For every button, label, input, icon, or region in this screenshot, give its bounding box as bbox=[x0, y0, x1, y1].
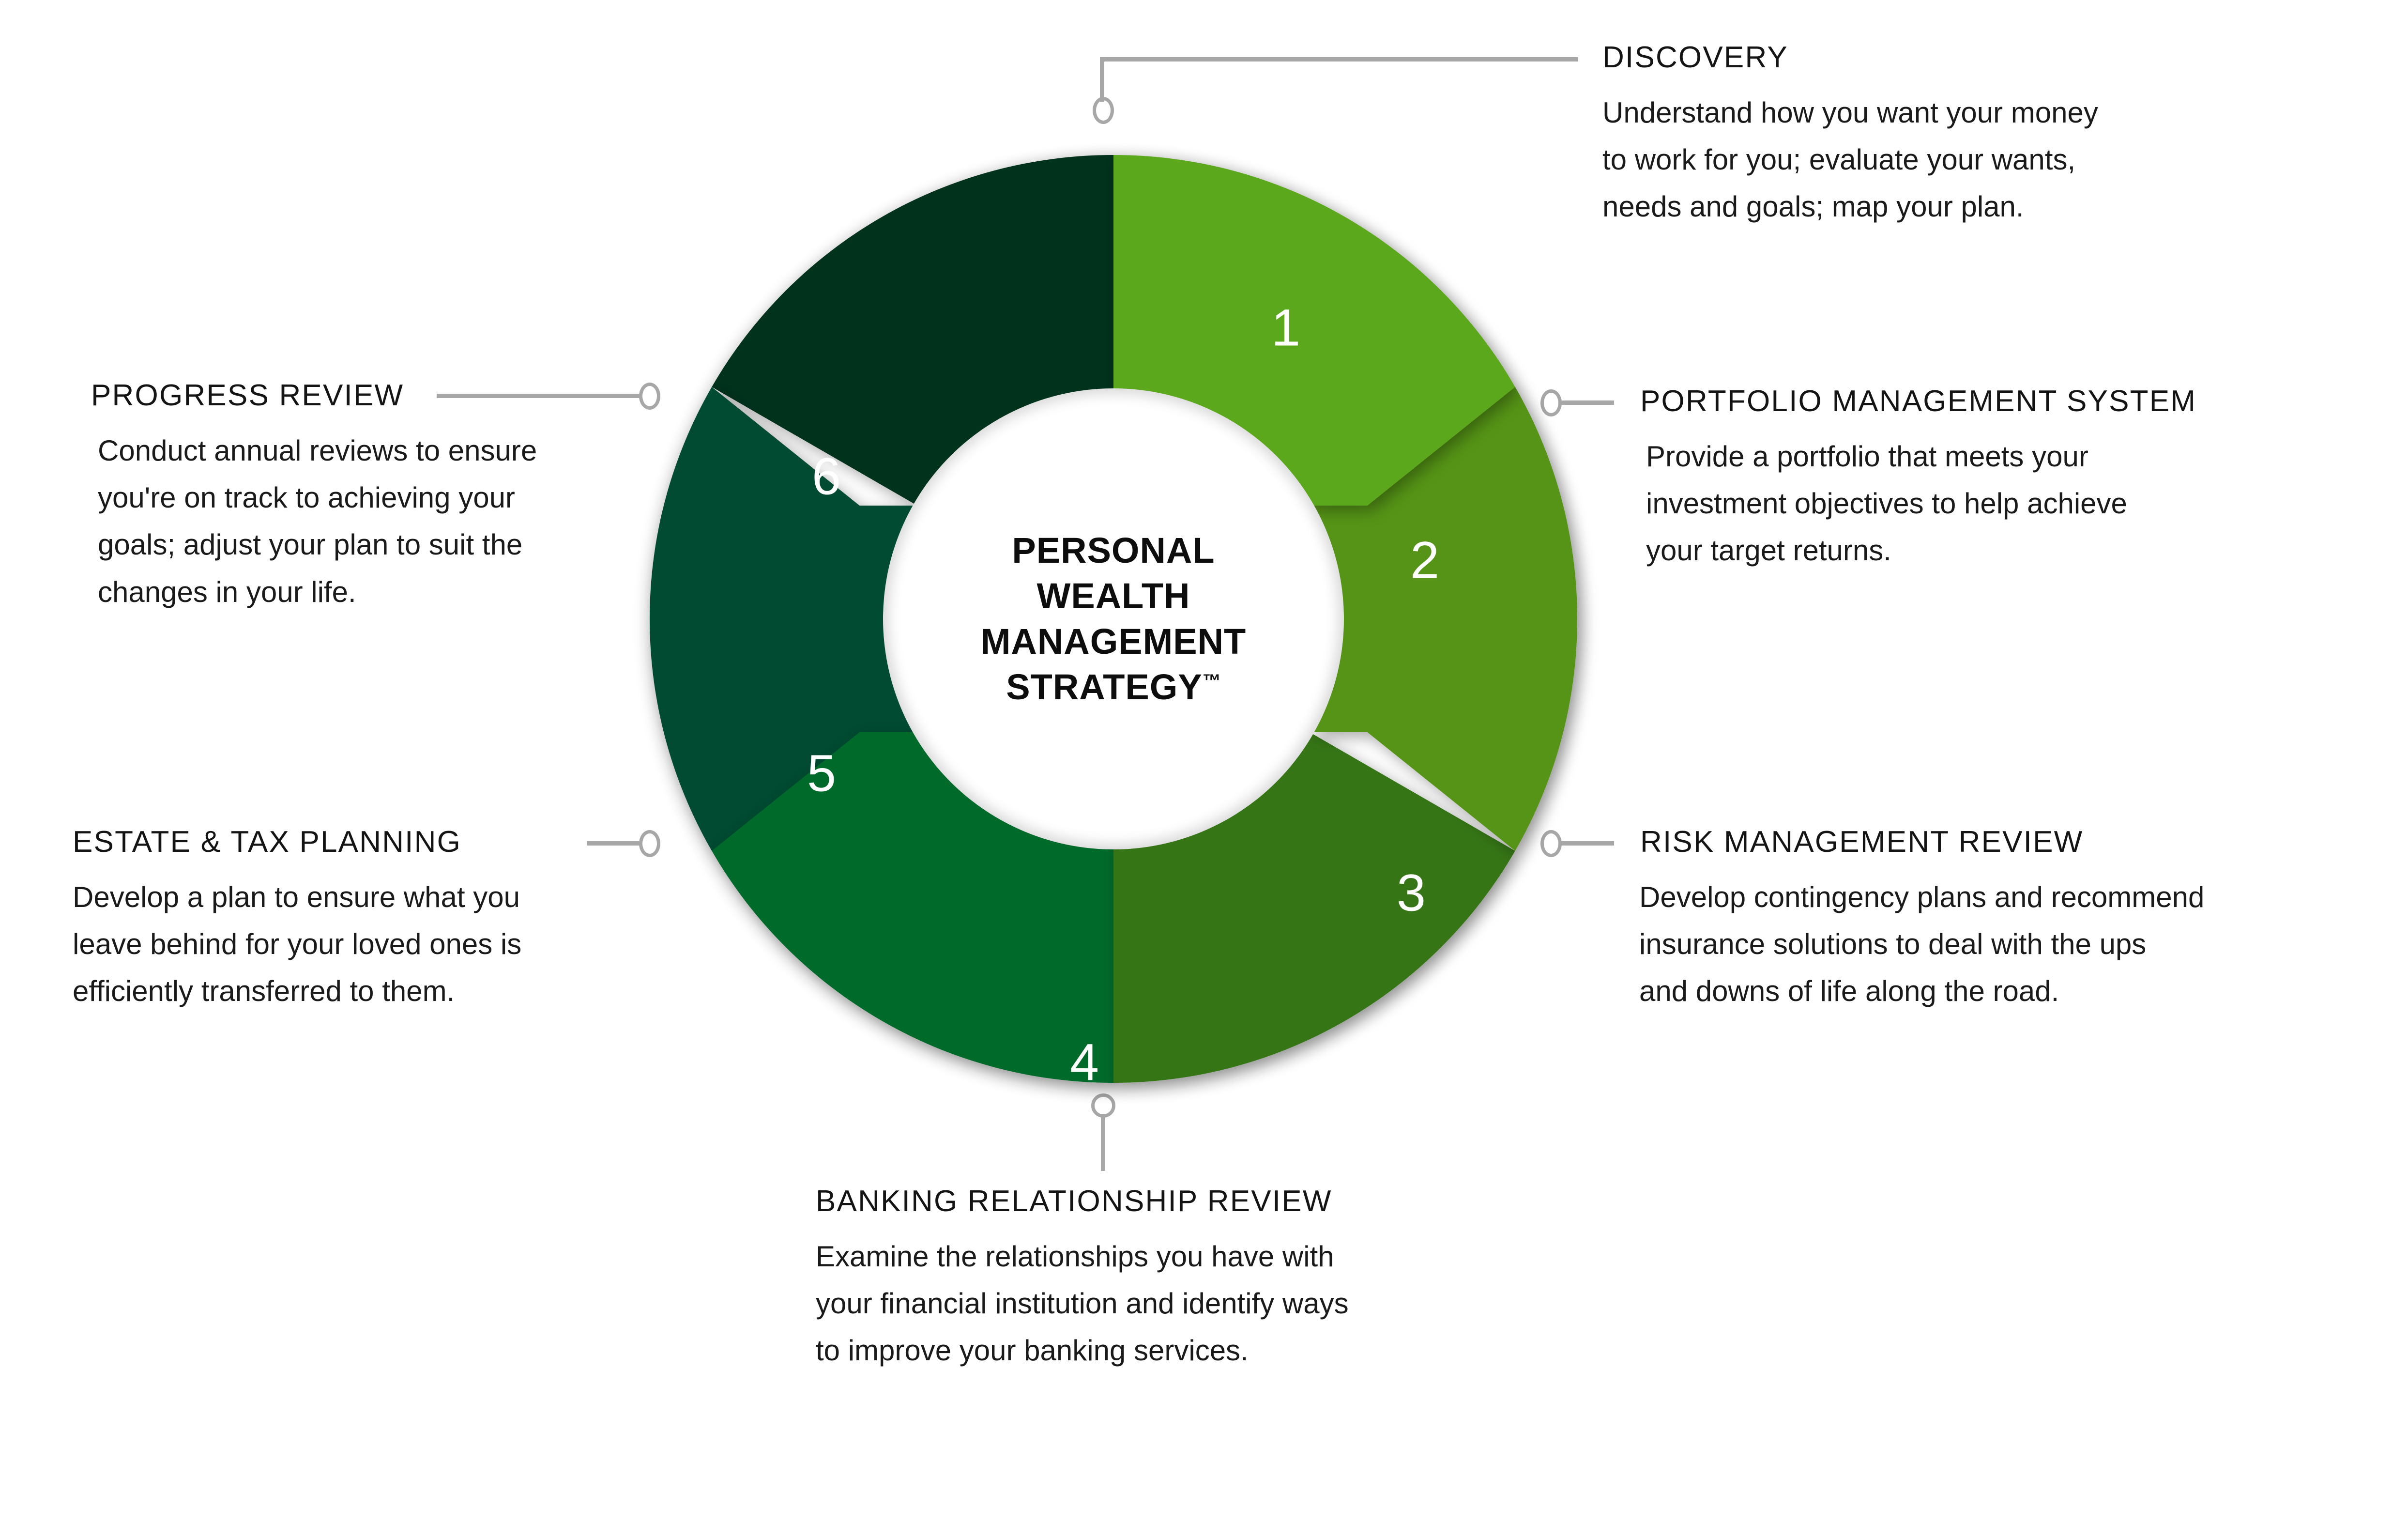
callout-body-line: to work for you; evaluate your wants, bbox=[1602, 136, 2358, 183]
connector-line-discovery-vertical bbox=[1100, 57, 1104, 102]
callout-title-progress-review: PROGRESS REVIEW bbox=[91, 381, 643, 411]
connector-line-discovery-horizontal bbox=[1100, 57, 1578, 62]
center-line-4-wrap: STRATEGY™ bbox=[981, 664, 1247, 710]
callout-portfolio-management-system: PORTFOLIO MANAGEMENT SYSTEM Provide a po… bbox=[1640, 386, 2395, 574]
callout-body-line: Develop contingency plans and recommend bbox=[1639, 874, 2408, 921]
callout-body-line: your target returns. bbox=[1646, 527, 2395, 574]
callout-body-risk-management-review: Develop contingency plans and recommend … bbox=[1639, 874, 2408, 1015]
segment-number-5: 5 bbox=[807, 744, 836, 802]
callout-body-line: Provide a portfolio that meets your bbox=[1646, 433, 2395, 480]
callout-discovery: DISCOVERY Understand how you want your m… bbox=[1602, 43, 2358, 231]
callout-progress-review: PROGRESS REVIEW Conduct annual reviews t… bbox=[91, 381, 643, 616]
center-line-4: STRATEGY bbox=[1006, 667, 1202, 707]
segment-number-6: 6 bbox=[812, 447, 841, 506]
callout-title-banking-relationship-review: BANKING RELATIONSHIP REVIEW bbox=[816, 1186, 1590, 1216]
callout-title-risk-management-review: RISK MANAGEMENT REVIEW bbox=[1640, 827, 2408, 857]
callout-title-discovery: DISCOVERY bbox=[1602, 43, 2358, 73]
center-hub: PERSONAL WEALTH MANAGEMENT STRATEGY™ bbox=[883, 388, 1344, 849]
segment-number-2: 2 bbox=[1410, 531, 1439, 589]
callout-risk-management-review: RISK MANAGEMENT REVIEW Develop contingen… bbox=[1640, 827, 2408, 1015]
callout-banking-relationship-review: BANKING RELATIONSHIP REVIEW Examine the … bbox=[816, 1186, 1590, 1374]
callout-title-portfolio-management-system: PORTFOLIO MANAGEMENT SYSTEM bbox=[1640, 386, 2395, 416]
callout-body-line: goals; adjust your plan to suit the bbox=[98, 521, 643, 568]
callout-body-line: Understand how you want your money bbox=[1602, 89, 2358, 136]
callout-body-banking-relationship-review: Examine the relationships you have with … bbox=[816, 1233, 1590, 1374]
callout-body-discovery: Understand how you want your money to wo… bbox=[1602, 89, 2358, 231]
callout-body-line: needs and goals; map your plan. bbox=[1602, 183, 2358, 230]
callout-body-line: changes in your life. bbox=[98, 569, 643, 616]
center-line-2: WEALTH bbox=[981, 573, 1247, 619]
trademark-symbol: ™ bbox=[1203, 671, 1221, 691]
callout-body-progress-review: Conduct annual reviews to ensure you're … bbox=[98, 427, 643, 616]
callout-body-line: and downs of life along the road. bbox=[1639, 968, 2408, 1015]
center-line-1: PERSONAL bbox=[981, 528, 1247, 573]
callout-body-line: Conduct annual reviews to ensure bbox=[98, 427, 643, 474]
callout-estate-tax-planning: ESTATE & TAX PLANNING Develop a plan to … bbox=[73, 827, 634, 1015]
callout-body-line: your financial institution and identify … bbox=[816, 1280, 1590, 1327]
callout-body-line: investment objectives to help achieve bbox=[1646, 480, 2395, 527]
callout-body-line: Examine the relationships you have with bbox=[816, 1233, 1590, 1280]
segment-number-1: 1 bbox=[1271, 298, 1300, 357]
callout-body-estate-tax-planning: Develop a plan to ensure what you leave … bbox=[73, 874, 634, 1015]
callout-body-line: you're on track to achieving your bbox=[98, 474, 643, 521]
diagram-canvas: 1 2 3 4 5 6 PERSONAL WEALTH MANAGEMENT S… bbox=[0, 0, 2408, 1539]
center-hub-text: PERSONAL WEALTH MANAGEMENT STRATEGY™ bbox=[981, 528, 1247, 710]
callout-body-line: efficiently transferred to them. bbox=[73, 968, 634, 1015]
center-line-3: MANAGEMENT bbox=[981, 619, 1247, 664]
connector-line-banking bbox=[1101, 1114, 1105, 1171]
segment-number-3: 3 bbox=[1397, 863, 1426, 922]
callout-body-line: insurance solutions to deal with the ups bbox=[1639, 921, 2408, 968]
callout-body-line: Develop a plan to ensure what you bbox=[73, 874, 634, 921]
callout-body-line: to improve your banking services. bbox=[816, 1327, 1590, 1374]
callout-body-portfolio-management-system: Provide a portfolio that meets your inve… bbox=[1646, 433, 2395, 574]
segment-number-4: 4 bbox=[1070, 1033, 1099, 1092]
callout-title-estate-tax-planning: ESTATE & TAX PLANNING bbox=[73, 827, 634, 857]
callout-body-line: leave behind for your loved ones is bbox=[73, 921, 634, 968]
